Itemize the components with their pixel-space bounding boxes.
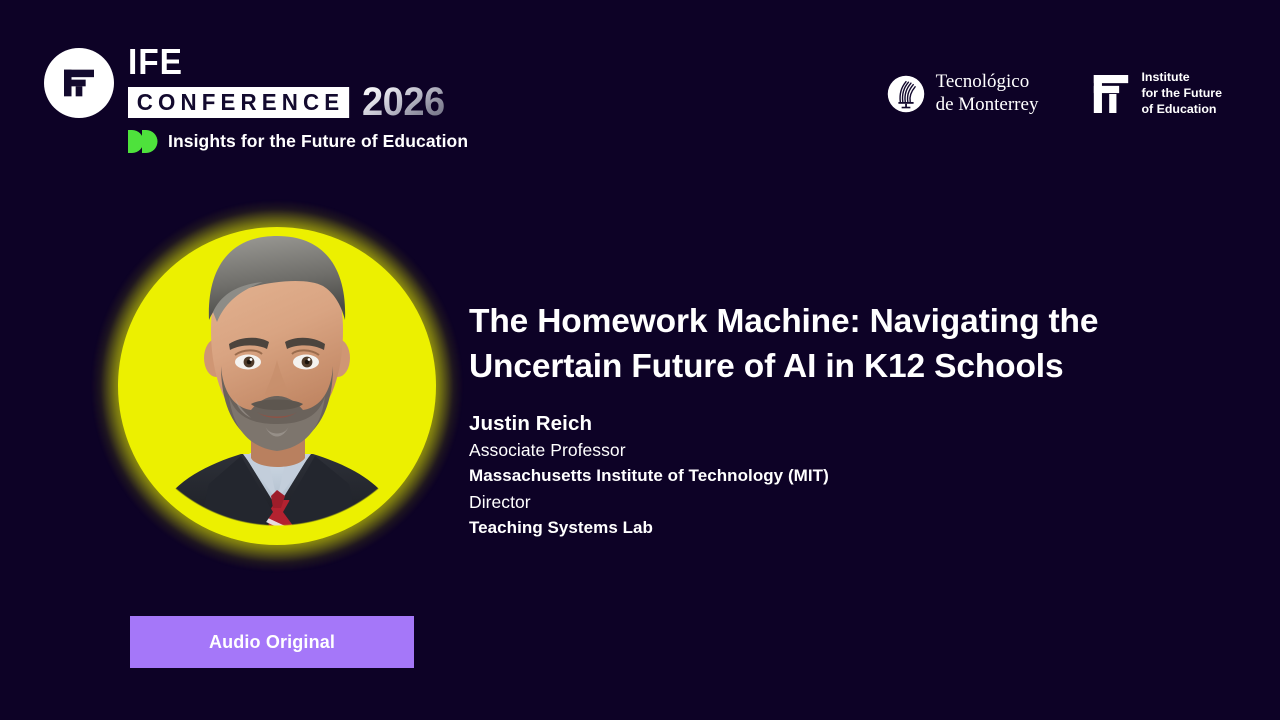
tec-flame-emblem-icon: [887, 75, 925, 113]
conference-label: CONFERENCE: [128, 87, 349, 117]
tecnologico-de-monterrey-logo[interactable]: Tecnológico de Monterrey: [887, 71, 1039, 116]
audio-original-badge[interactable]: Audio Original: [130, 616, 414, 668]
logo-wordmark-group: IFE CONFERENCE 2026: [128, 44, 449, 121]
session-text-column: The Homework Machine: Navigating the Unc…: [469, 300, 1229, 540]
partner-logos: Tecnológico de Monterrey Institute for t…: [887, 70, 1222, 118]
audio-original-label: Audio Original: [209, 632, 335, 653]
speaker-affiliation-primary: Massachusetts Institute of Technology (M…: [469, 463, 1229, 488]
institute-wordmark-line2: for the Future: [1141, 86, 1222, 102]
ife-wordmark: IFE: [128, 44, 427, 79]
institute-future-education-logo[interactable]: Institute for the Future of Education: [1092, 70, 1222, 118]
conference-year: 2026: [362, 84, 445, 121]
institute-wordmark-line3: of Education: [1141, 102, 1222, 118]
portrait-illustration: [117, 208, 437, 564]
speaker-role-secondary: Director: [469, 489, 1229, 515]
tec-wordmark-line2: de Monterrey: [936, 94, 1039, 116]
speaker-portrait: [95, 196, 459, 576]
ife-monogram-icon: [44, 48, 114, 118]
speaker-affiliation-secondary: Teaching Systems Lab: [469, 515, 1229, 540]
speaker-role-primary: Associate Professor: [469, 437, 1229, 463]
session-slide: IFE CONFERENCE 2026 Insights for the Fut…: [0, 0, 1280, 720]
speaker-details: Justin Reich Associate Professor Massach…: [469, 411, 1229, 540]
ife-conference-logo[interactable]: IFE CONFERENCE 2026 Insights for the Fut…: [44, 44, 468, 153]
portrait-image-clip: [117, 208, 437, 564]
institute-wordmark: Institute for the Future of Education: [1141, 70, 1222, 118]
tec-wordmark-line1: Tecnológico: [936, 71, 1039, 93]
ife-monogram-icon: [1092, 72, 1130, 116]
logo-tagline: Insights for the Future of Education: [168, 131, 468, 152]
logo-tagline-row: Insights for the Future of Education: [128, 130, 468, 153]
speaker-name: Justin Reich: [469, 411, 1229, 437]
logo-main-row: IFE CONFERENCE 2026: [44, 44, 468, 121]
session-title: The Homework Machine: Navigating the Unc…: [469, 300, 1229, 389]
conference-year-row: CONFERENCE 2026: [128, 84, 449, 121]
double-d-icon: [128, 130, 159, 153]
tec-wordmark: Tecnológico de Monterrey: [936, 71, 1039, 116]
institute-wordmark-line1: Institute: [1141, 70, 1222, 86]
